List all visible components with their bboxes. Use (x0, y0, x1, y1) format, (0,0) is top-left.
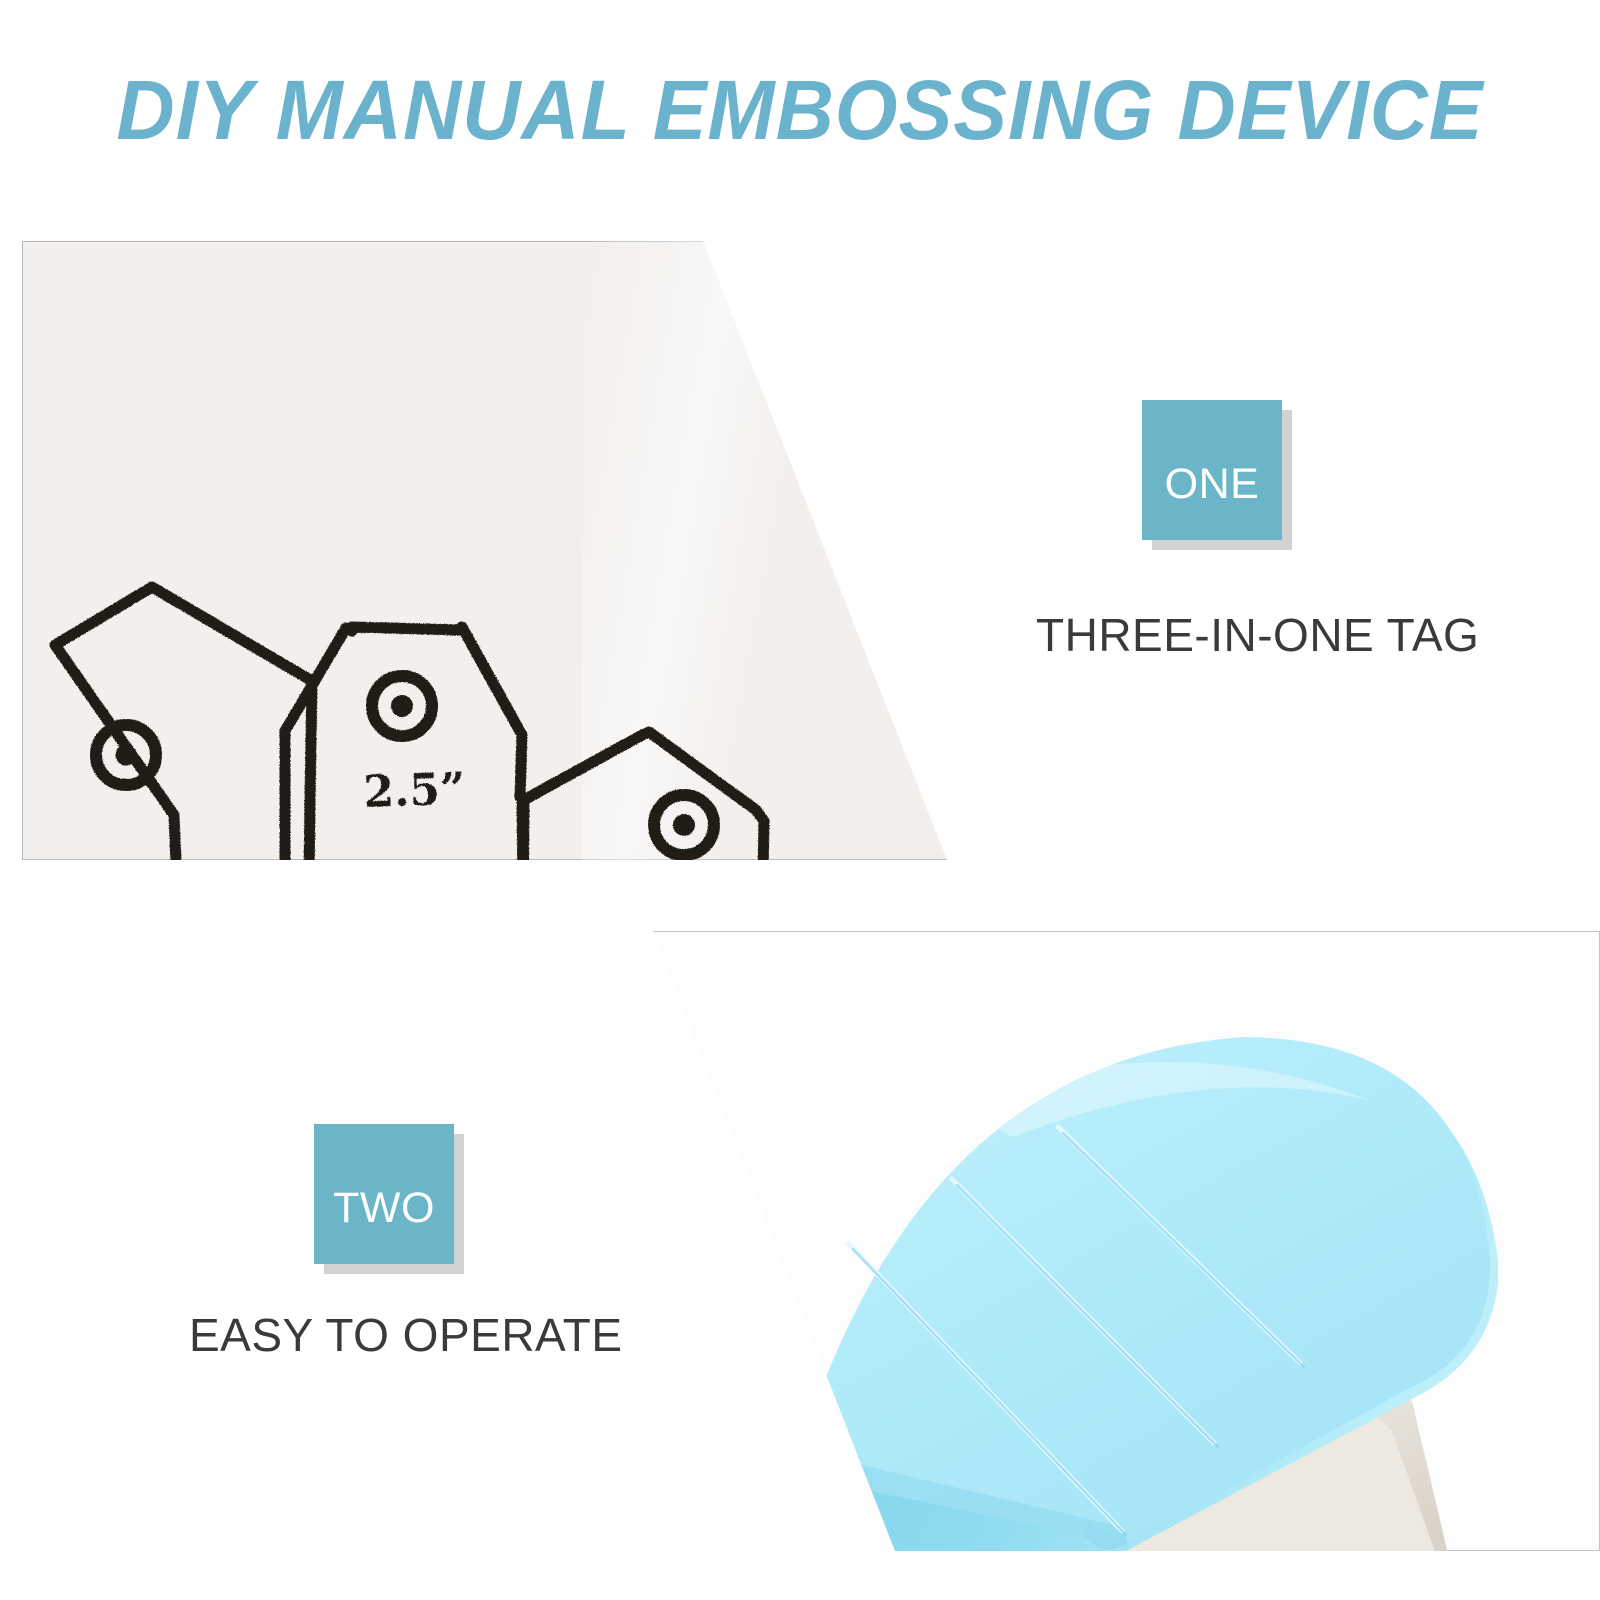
tag-size-label-small: 1.5” (150, 858, 254, 860)
badge-one-label: ONE (1165, 463, 1260, 506)
badge-two-box: TWO (314, 1124, 454, 1264)
feature-caption-one: THREE-IN-ONE TAG (1036, 612, 1479, 658)
tag-size-label-large: 2.5” (363, 763, 467, 818)
embossing-device-illustration (652, 931, 1600, 1551)
feature-caption-two: EASY TO OPERATE (189, 1312, 623, 1358)
eyelet-large (372, 676, 432, 736)
tag-outlines-illustration: 1.5” 2.5” 2” (22, 241, 948, 860)
step-badge-two: TWO (314, 1124, 464, 1274)
eyelet-medium (654, 795, 714, 855)
page-title: DIY MANUAL EMBOSSING DEVICE (32, 62, 1568, 158)
tag-outline-small (55, 587, 312, 860)
badge-one-box: ONE (1142, 400, 1282, 540)
eyelet-small (96, 725, 156, 785)
tag-outline-large (285, 627, 524, 860)
blue-embossing-punch-photo (652, 931, 1600, 1551)
step-badge-one: ONE (1142, 400, 1292, 550)
badge-two-label: TWO (333, 1187, 435, 1230)
tag-template-sheet-photo: 1.5” 2.5” 2” (22, 241, 948, 860)
tag-size-label-medium: 2” (603, 855, 661, 860)
tag-outline-medium (509, 732, 764, 860)
